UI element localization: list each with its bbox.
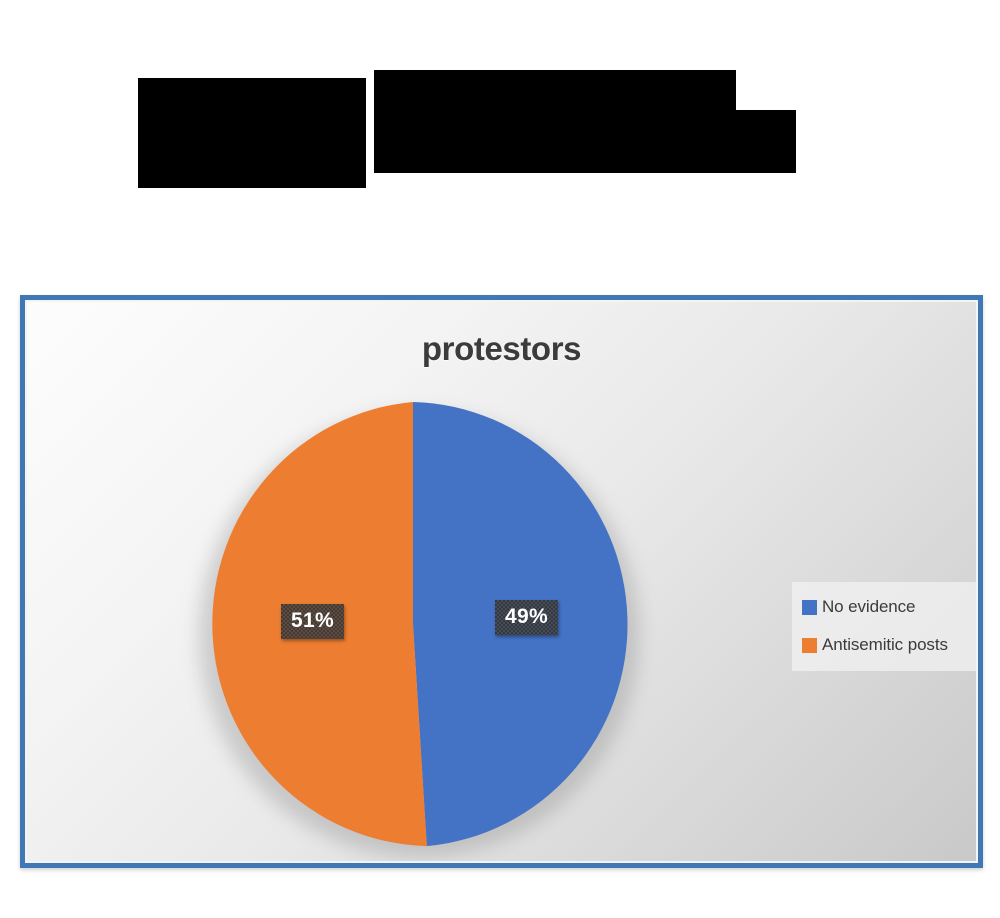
chart-inner-border: protestors 51% 49% No evidence	[25, 300, 978, 863]
redaction-block-headline-line-1	[138, 78, 366, 188]
pie-data-label-no-evidence: 49%	[495, 600, 558, 635]
chart-plot-area: protestors 51% 49% No evidence	[27, 302, 976, 861]
legend-swatch-no-evidence	[802, 600, 817, 615]
pie-chart-frame[interactable]: protestors 51% 49% No evidence	[20, 295, 983, 868]
redaction-block-headline-line-2-tail	[734, 110, 796, 173]
pie-data-label-antisemitic-posts: 51%	[281, 604, 344, 639]
redaction-block-headline-line-2	[374, 70, 736, 173]
legend-label-antisemitic-posts: Antisemitic posts	[822, 635, 948, 655]
legend-item-no-evidence[interactable]: No evidence	[802, 594, 968, 620]
legend-item-antisemitic-posts[interactable]: Antisemitic posts	[802, 632, 968, 658]
legend-label-no-evidence: No evidence	[822, 597, 915, 617]
chart-title: protestors	[27, 330, 976, 368]
pie-slices-svg[interactable]	[193, 402, 633, 847]
chart-legend[interactable]: No evidence Antisemitic posts	[792, 582, 978, 671]
redacted-headline-area	[0, 0, 1000, 250]
legend-swatch-antisemitic-posts	[802, 638, 817, 653]
pie-graphic[interactable]: 51% 49%	[193, 402, 633, 847]
